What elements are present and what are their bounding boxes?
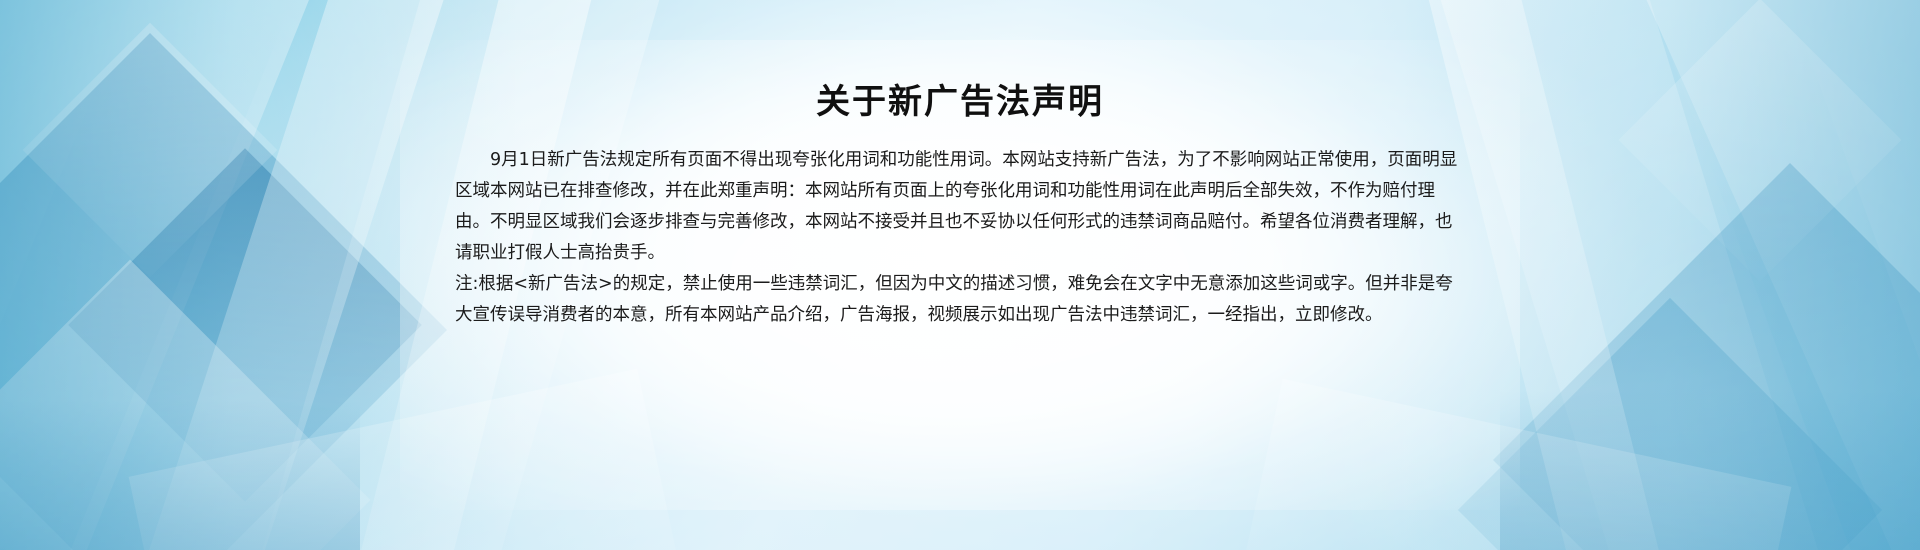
- statement-body: 9月1日新广告法规定所有页面不得出现夸张化用词和功能性用词。本网站支持新广告法，…: [455, 145, 1465, 331]
- page-title: 关于新广告法声明: [816, 82, 1104, 123]
- advertising-law-statement-banner: 关于新广告法声明 9月1日新广告法规定所有页面不得出现夸张化用词和功能性用词。本…: [0, 0, 1920, 550]
- statement-paragraph-note: 注:根据<新广告法>的规定，禁止使用一些违禁词汇，但因为中文的描述习惯，难免会在…: [455, 269, 1465, 331]
- banner-content: 关于新广告法声明 9月1日新广告法规定所有页面不得出现夸张化用词和功能性用词。本…: [0, 0, 1920, 550]
- statement-paragraph-main: 9月1日新广告法规定所有页面不得出现夸张化用词和功能性用词。本网站支持新广告法，…: [455, 145, 1465, 269]
